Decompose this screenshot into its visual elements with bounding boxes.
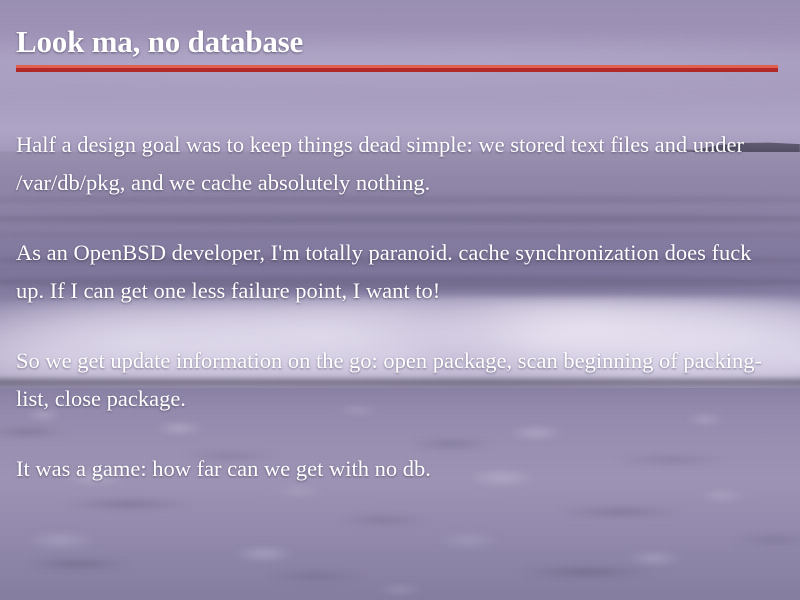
title-underline-rule [16, 65, 778, 72]
body-paragraph: So we get update information on the go: … [16, 342, 768, 418]
body-paragraph: Half a design goal was to keep things de… [16, 126, 768, 202]
slide-body: Half a design goal was to keep things de… [16, 126, 768, 488]
body-paragraph: As an OpenBSD developer, I'm totally par… [16, 234, 768, 310]
slide-content: Look ma, no database Half a design goal … [0, 0, 800, 600]
title-underline-rule-bottom [16, 68, 778, 72]
presentation-slide: Look ma, no database Half a design goal … [0, 0, 800, 600]
slide-title: Look ma, no database [16, 24, 303, 60]
body-paragraph: It was a game: how far can we get with n… [16, 450, 768, 488]
